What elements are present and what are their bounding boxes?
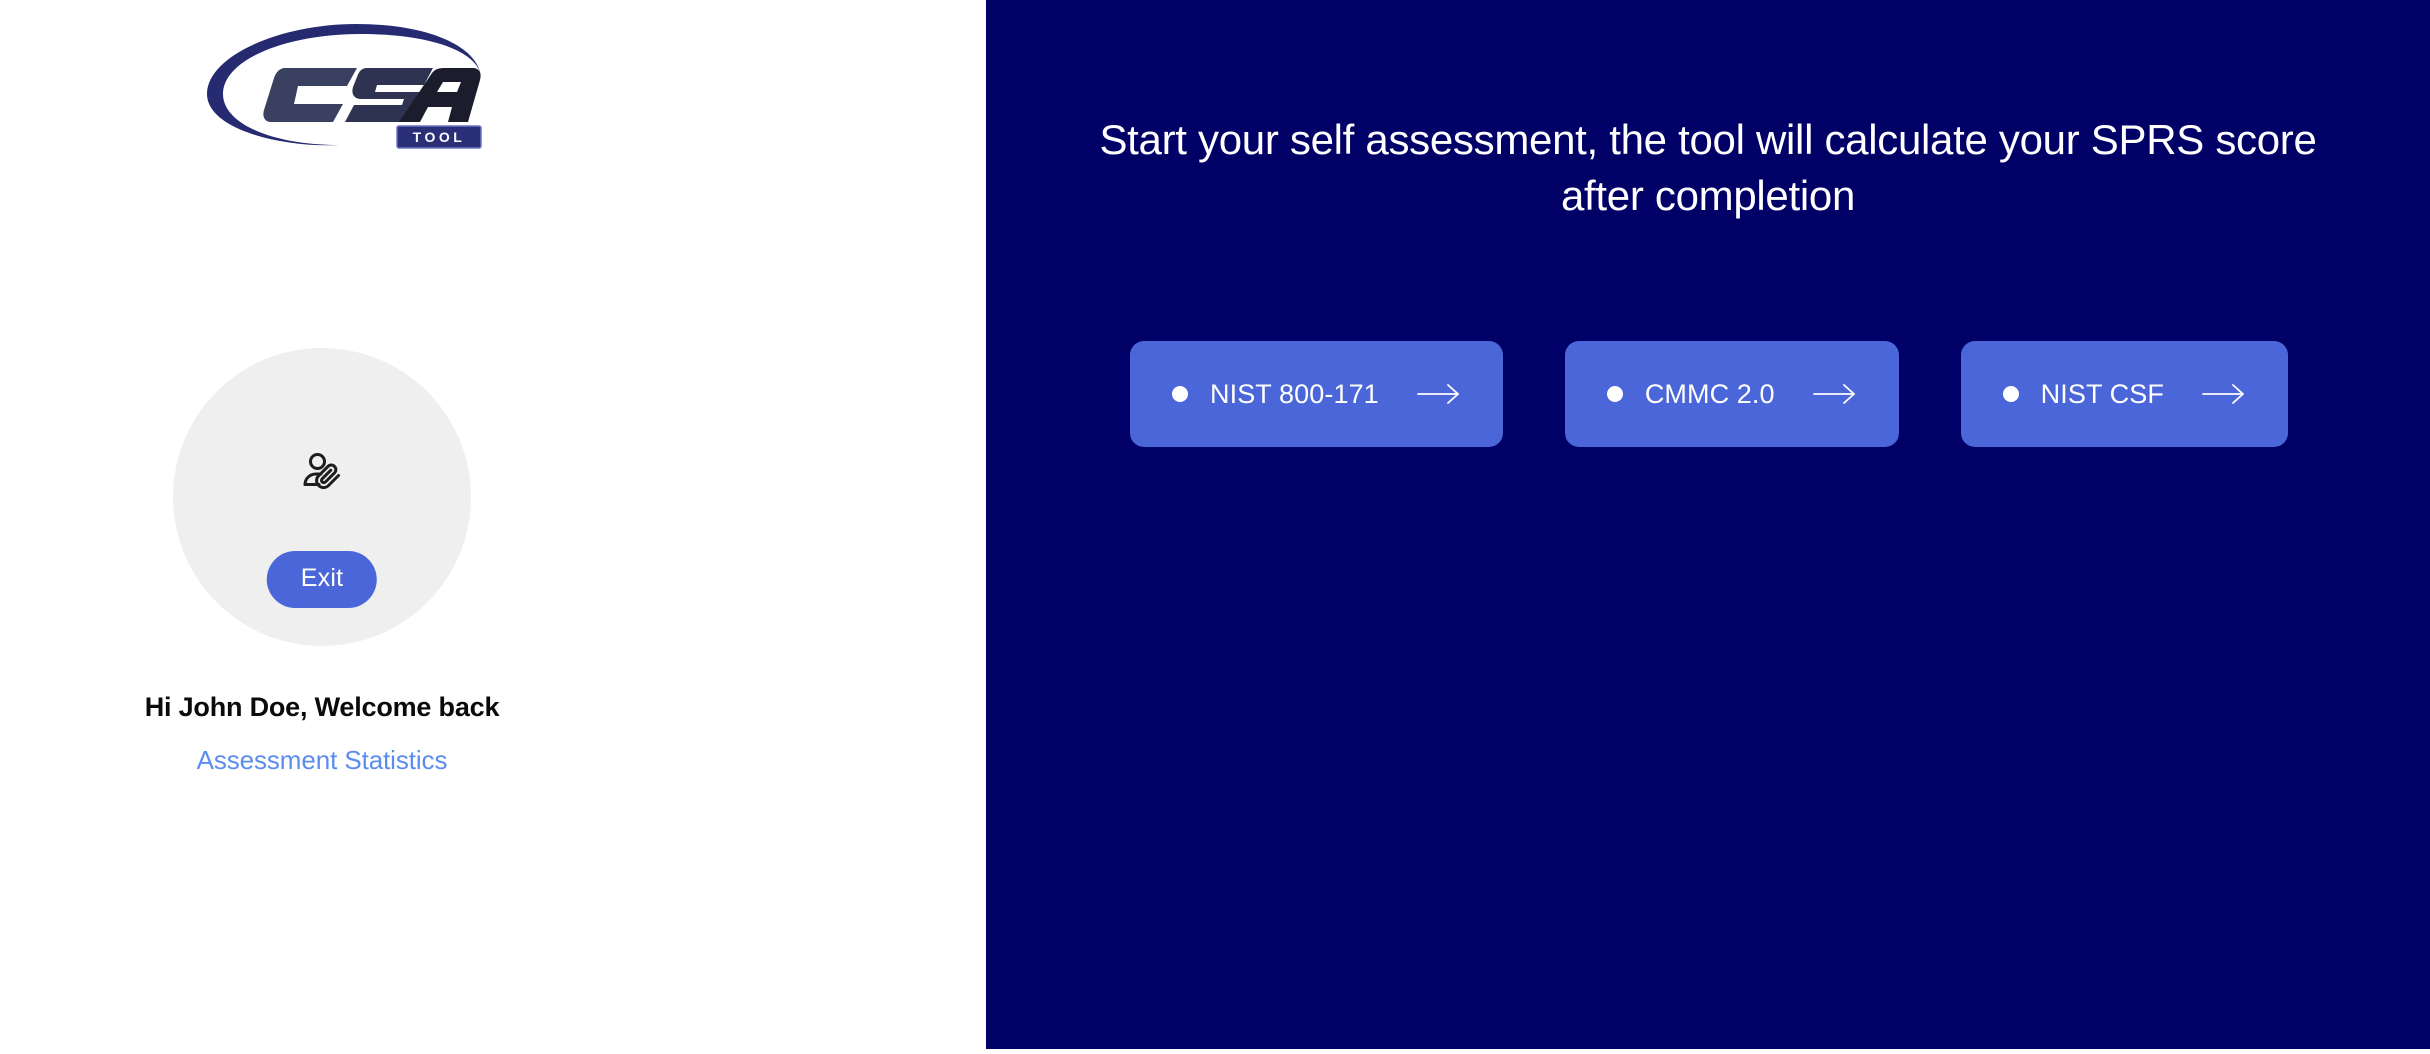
csa-tool-logo-icon[interactable]: TOOL — [185, 12, 485, 160]
person-attachment-icon — [298, 448, 346, 496]
main-panel: Start your self assessment, the tool wil… — [986, 0, 2430, 1049]
bullet-dot-icon — [1607, 386, 1623, 402]
app-root: TOOL Exit Hi John Doe, Welcome back Asse… — [0, 0, 2430, 1054]
exit-button[interactable]: Exit — [267, 551, 377, 608]
avatar: Exit — [173, 348, 471, 646]
framework-button-nist-800-171[interactable]: NIST 800-171 — [1130, 341, 1503, 447]
arrow-right-icon — [1417, 383, 1461, 405]
arrow-right-icon — [1813, 383, 1857, 405]
framework-button-nist-csf[interactable]: NIST CSF — [1961, 341, 2288, 447]
framework-button-label: CMMC 2.0 — [1645, 379, 1775, 410]
bullet-dot-icon — [2003, 386, 2019, 402]
assessment-statistics-link[interactable]: Assessment Statistics — [197, 745, 448, 776]
left-panel: TOOL Exit Hi John Doe, Welcome back Asse… — [0, 0, 986, 1054]
framework-button-label: NIST 800-171 — [1210, 379, 1379, 410]
profile-block: Exit Hi John Doe, Welcome back Assessmen… — [0, 348, 986, 776]
bullet-dot-icon — [1172, 386, 1188, 402]
svg-text:TOOL: TOOL — [413, 129, 466, 145]
welcome-message: Hi John Doe, Welcome back — [145, 692, 500, 723]
page-headline: Start your self assessment, the tool wil… — [1088, 112, 2328, 223]
framework-button-row: NIST 800-171 CMMC 2.0 — [1130, 341, 2288, 447]
framework-button-label: NIST CSF — [2041, 379, 2164, 410]
arrow-right-icon — [2202, 383, 2246, 405]
framework-button-cmmc-2-0[interactable]: CMMC 2.0 — [1565, 341, 1899, 447]
